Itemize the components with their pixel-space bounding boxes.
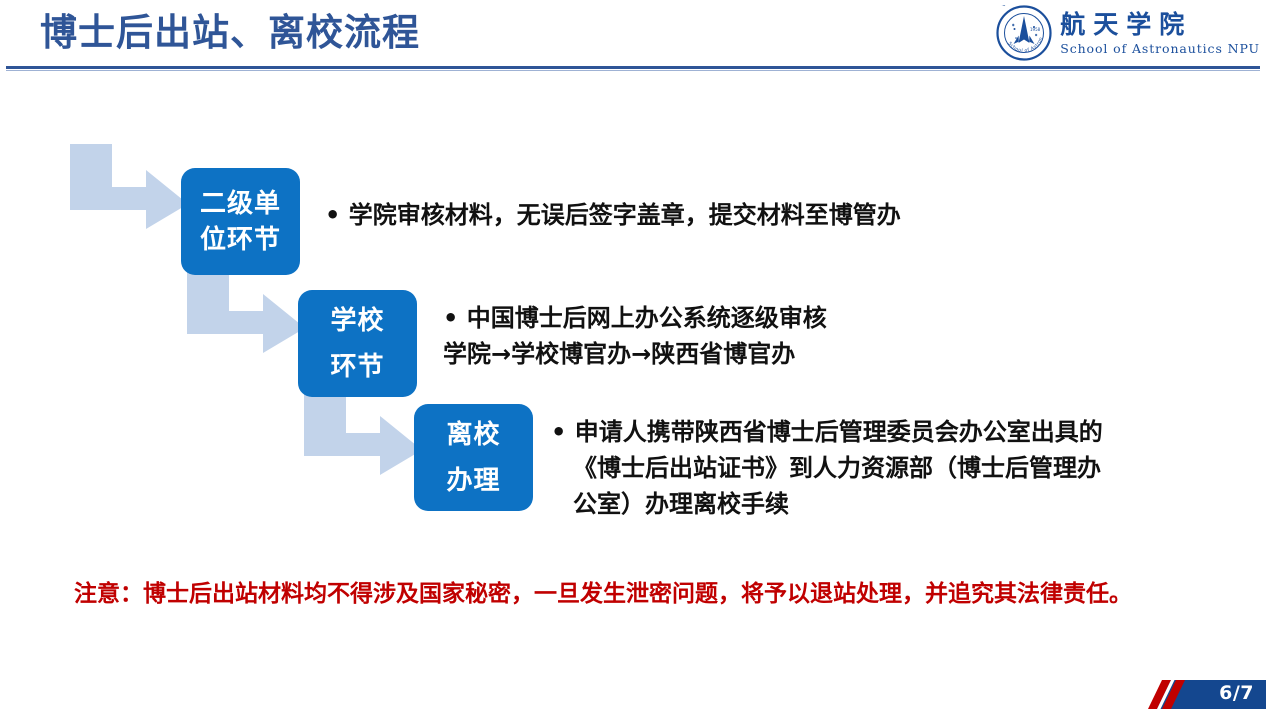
flow-step-box-1[interactable]: 二级单 位环节 (181, 168, 300, 275)
flow-step-3-label-line1: 离校 (446, 412, 500, 458)
flow-step-3-description: • 申请人携带陕西省博士后管理委员会办公室出具的 《博士后出站证书》到人力资源部… (551, 414, 1103, 522)
flow-step-2-label-line2: 环节 (330, 344, 384, 390)
flow-step-box-3[interactable]: 离校 办理 (414, 404, 533, 511)
flow-step-2-description-line-1: • 中国博士后网上办公系统逐级审核 (443, 300, 827, 336)
flow-step-box-2[interactable]: 学校 环节 (298, 290, 417, 397)
flow-step-3-label-line2: 办理 (446, 458, 500, 504)
logo-name-cn: 航天学院 (1060, 10, 1192, 40)
flow-arrow-2 (187, 268, 307, 353)
flow-step-1-label-line2: 位环节 (200, 222, 281, 258)
header-divider (6, 66, 1260, 69)
flow-step-2-description: • 中国博士后网上办公系统逐级审核 学院→学校博官办→陕西省博官办 (443, 300, 827, 372)
school-seal-icon: 1958 西北工业大学 航天学院 School of Astronautics (996, 5, 1052, 61)
flow-step-3-description-line-2: 《博士后出站证书》到人力资源部（博士后管理办 (551, 450, 1103, 486)
flow-step-1-description-line-1: • 学院审核材料，无误后签字盖章，提交材料至博管办 (325, 197, 901, 233)
flow-step-3-description-line-1: • 申请人携带陕西省博士后管理委员会办公室出具的 (551, 414, 1103, 450)
page-number-label: 6/7 (1219, 682, 1254, 704)
slide-header: 博士后出站、离校流程 1958 西北工业大学 航天学院 (0, 0, 1266, 72)
flow-step-2-label-line1: 学校 (330, 298, 384, 344)
warning-note: 注意：博士后出站材料均不得涉及国家秘密，一旦发生泄密问题，将予以退站处理，并追究… (74, 577, 1132, 611)
flow-step-1-description: • 学院审核材料，无误后签字盖章，提交材料至博管办 (325, 197, 901, 233)
flow-step-1-label-line1: 二级单 (200, 186, 281, 222)
process-flow-diagram: 二级单 位环节 • 学院审核材料，无误后签字盖章，提交材料至博管办 学校 环节 … (0, 72, 1266, 562)
svg-text:1958: 1958 (1030, 27, 1041, 32)
header-divider-thin (6, 70, 1260, 71)
logo-name-en: School of Astronautics NPU (1060, 40, 1260, 57)
institution-logo: 1958 西北工业大学 航天学院 School of Astronautics … (996, 4, 1260, 62)
flow-arrow-1 (70, 144, 190, 229)
flow-step-3-description-line-3: 公室）办理离校手续 (551, 486, 1103, 522)
flow-arrow-3 (304, 390, 424, 475)
flow-step-2-description-line-2: 学院→学校博官办→陕西省博官办 (443, 336, 827, 372)
page-number-badge: 6/7 (1140, 680, 1266, 709)
page-title: 博士后出站、离校流程 (40, 8, 420, 58)
